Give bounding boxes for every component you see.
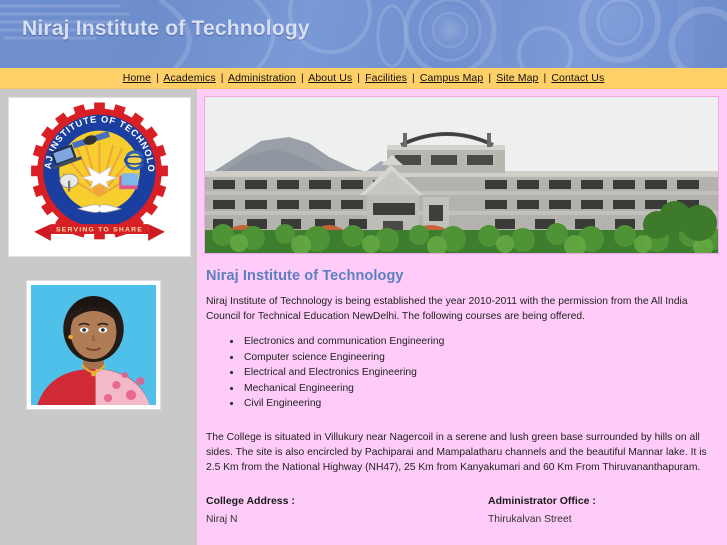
nav-item-campus-map[interactable]: Campus Map [420,72,483,84]
intro-paragraph: Niraj Institute of Technology is being e… [206,294,711,324]
main-navigation[interactable]: Home | Academics | Administration | Abou… [0,68,727,89]
nav-item-home[interactable]: Home [123,72,151,84]
nav-item-administration[interactable]: Administration [228,72,296,84]
college-address-line: Niraj N [206,513,488,527]
institute-logo-card: NIRAJ INSTITUTE OF TECHNOLOGY [8,97,191,257]
list-item: Electronics and communication Engineerin… [242,334,719,350]
nav-item-contact-us[interactable]: Contact Us [551,72,604,84]
crest-ribbon-text: SERVING TO SHARE [56,227,143,234]
nav-separator: | [154,72,161,84]
nav-item-academics[interactable]: Academics [163,72,215,84]
page-title: Niraj Institute of Technology [206,268,719,284]
left-sidebar: NIRAJ INSTITUTE OF TECHNOLOGY [0,89,197,545]
address-section: College Address : Niraj N Administrator … [206,495,719,527]
nav-item-site-map[interactable]: Site Map [496,72,538,84]
campus-building-photo [204,96,719,254]
main-content: Niraj Institute of Technology Niraj Inst… [197,89,727,545]
crest-script-text: ✳ ✳ ✳ ✳ ✳ ✳ [68,213,131,224]
list-item: Electrical and Electronics Engineering [242,365,719,381]
college-address-column: College Address : Niraj N [206,495,488,527]
portrait-illustration [31,285,156,405]
site-banner: Niraj Institute of Technology [0,0,727,68]
campus-photo-illustration [205,97,718,253]
nav-item-about-us[interactable]: About Us [308,72,352,84]
nav-item-facilities[interactable]: Facilities [365,72,407,84]
nav-separator: | [486,72,493,84]
list-item: Civil Engineering [242,396,719,412]
nav-link-list: Home | Academics | Administration | Abou… [123,72,605,84]
list-item: Computer science Engineering [242,350,719,366]
page-content: NIRAJ INSTITUTE OF TECHNOLOGY [0,89,727,545]
staff-portrait-card [26,280,161,410]
administrator-office-line: Thirukalvan Street [488,513,596,527]
page-root: Niraj Institute of Technology Home | Aca… [0,0,727,545]
college-address-label: College Address : [206,495,488,507]
crest-books-icon [119,173,138,189]
nav-separator: | [219,72,226,84]
nav-separator: | [410,72,417,84]
nav-separator: | [299,72,306,84]
nav-separator: | [355,72,362,84]
nav-separator: | [542,72,549,84]
list-item: Mechanical Engineering [242,381,719,397]
administrator-office-column: Administrator Office : Thirukalvan Stree… [488,495,596,527]
site-title: Niraj Institute of Technology [22,17,310,41]
administrator-office-label: Administrator Office : [488,495,596,507]
location-paragraph: The College is situated in Villukury nea… [206,430,711,475]
courses-list: Electronics and communication Engineerin… [242,334,719,412]
institute-crest-logo: NIRAJ INSTITUTE OF TECHNOLOGY [22,101,177,253]
staff-portrait-photo [31,285,156,405]
